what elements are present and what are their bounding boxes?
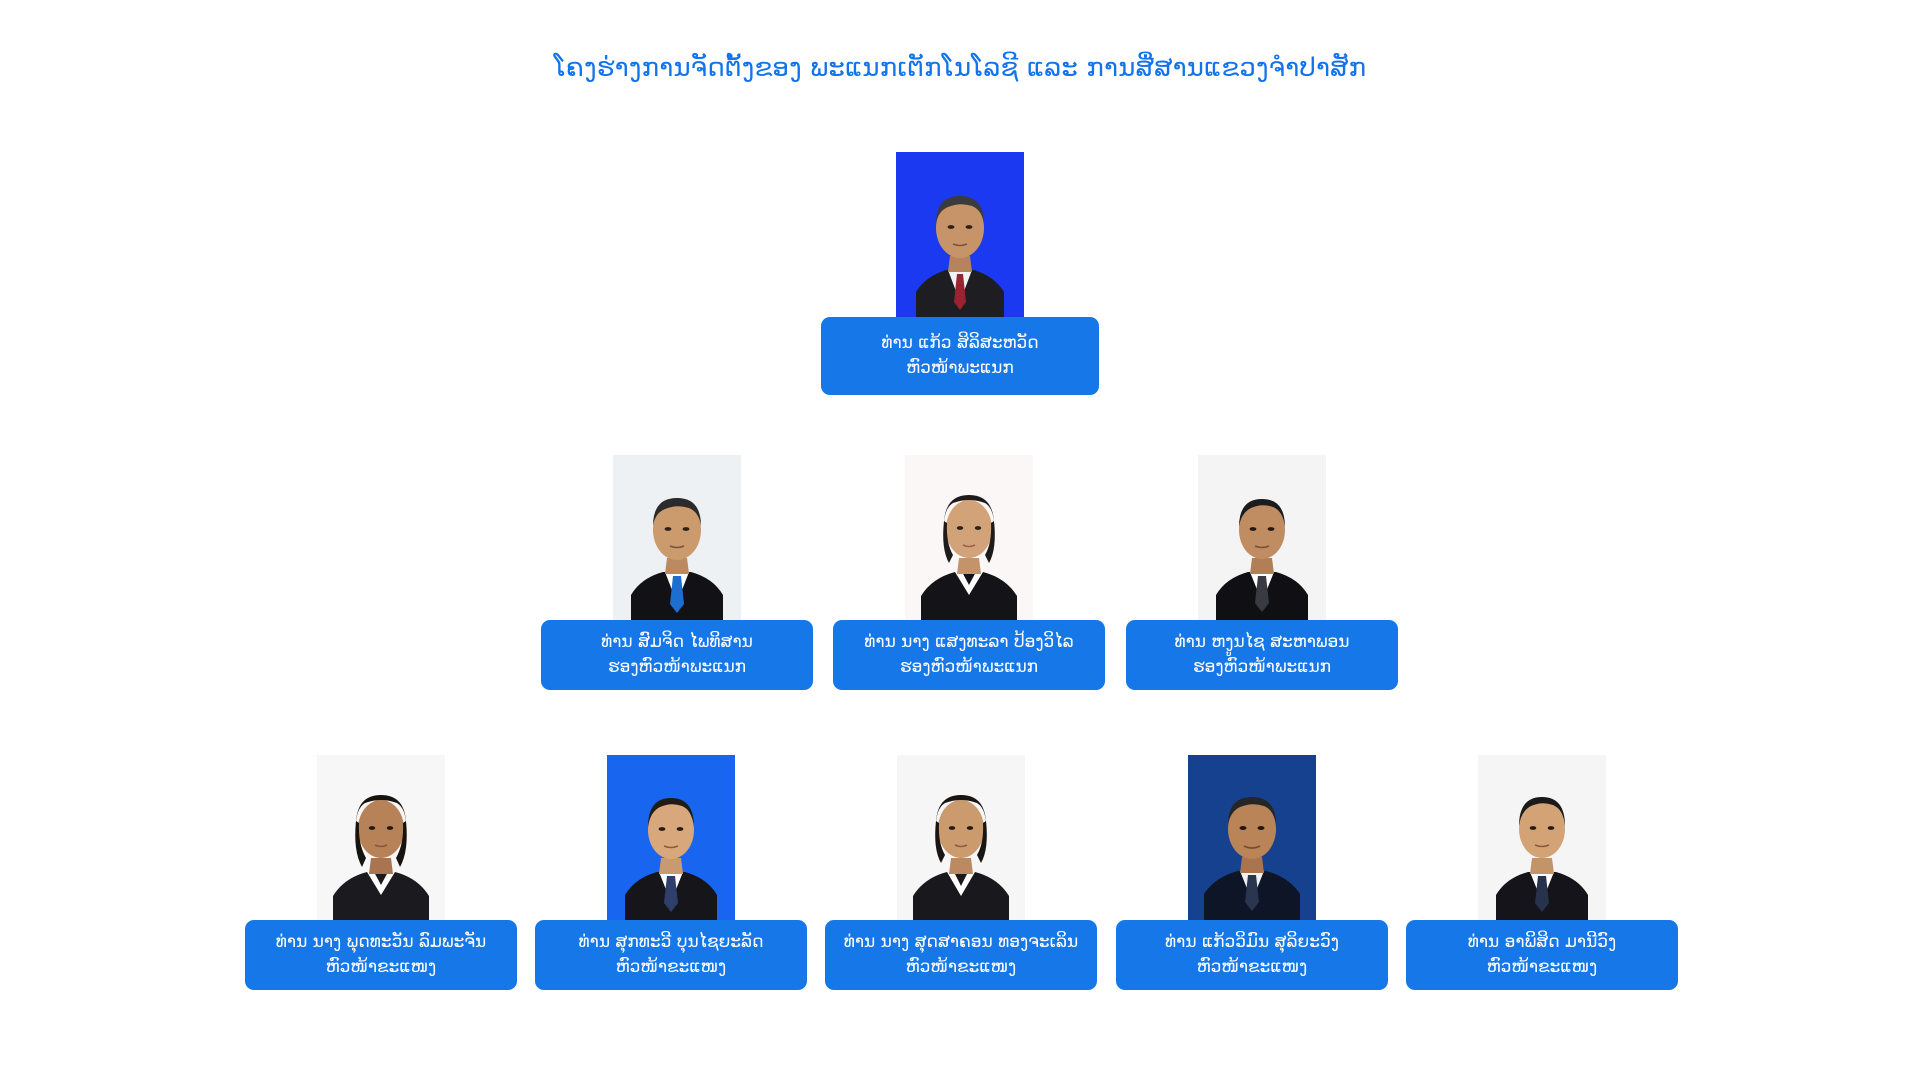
person-name: ທ່ານ ນາງ ພຸດທະວັນ ລົມພະຈັນ: [276, 930, 486, 955]
portrait-photo: [1198, 455, 1326, 620]
org-node-division-5[interactable]: ທ່ານ ອາພິສິດ ມານີວົງ ຫົວໜ້າຂະແໜງ: [1406, 755, 1678, 990]
portrait-photo: [613, 455, 741, 620]
name-card[interactable]: ທ່ານ ແກ້ວ ສິລິສະຫວັດ ຫົວໜ້າພະແນກ: [821, 317, 1099, 395]
org-node-head[interactable]: ທ່ານ ແກ້ວ ສິລິສະຫວັດ ຫົວໜ້າພະແນກ: [821, 152, 1099, 395]
name-card[interactable]: ທ່ານ ແກ້ວວິມົນ ສຸລິຍະວົງ ຫົວໜ້າຂະແໜງ: [1116, 920, 1388, 990]
org-node-division-3[interactable]: ທ່ານ ນາງ ສຸດສາຄອນ ທອງຈະເລິນ ຫົວໜ້າຂະແໜງ: [825, 755, 1097, 990]
person-role: ຫົວໜ້າພະແນກ: [906, 356, 1014, 381]
name-card[interactable]: ທ່ານ ສົມຈິດ ໄພທິສານ ຮອງຫົວໜ້າພະແນກ: [541, 620, 813, 690]
person-role: ຫົວໜ້າຂະແໜງ: [616, 955, 727, 980]
person-name: ທ່ານ ນາງ ສຸດສາຄອນ ທອງຈະເລິນ: [844, 930, 1079, 955]
person-name: ທ່ານ ນາງ ແສງທະລາ ປ້ອງວິໄລ: [864, 630, 1073, 655]
portrait-photo: [897, 755, 1025, 920]
org-node-division-2[interactable]: ທ່ານ ສຸກທະວີ ບຸນໄຊຍະລັດ ຫົວໜ້າຂະແໜງ: [535, 755, 807, 990]
person-name: ທ່ານ ຫງູນໄຊ ສະຫາພອນ: [1174, 630, 1349, 655]
name-card[interactable]: ທ່ານ ນາງ ແສງທະລາ ປ້ອງວິໄລ ຮອງຫົວໜ້າພະແນກ: [833, 620, 1105, 690]
org-node-deputy-1[interactable]: ທ່ານ ສົມຈິດ ໄພທິສານ ຮອງຫົວໜ້າພະແນກ: [541, 455, 813, 690]
person-name: ທ່ານ ສົມຈິດ ໄພທິສານ: [601, 630, 753, 655]
org-node-deputy-2[interactable]: ທ່ານ ນາງ ແສງທະລາ ປ້ອງວິໄລ ຮອງຫົວໜ້າພະແນກ: [833, 455, 1105, 690]
person-role: ຫົວໜ້າຂະແໜງ: [906, 955, 1017, 980]
org-chart: ໂຄງຮ່າງການຈັດຕັ້ງຂອງ ພະແນກເຕັກໂນໂລຊີ ແລະ…: [0, 0, 1920, 1080]
org-node-division-4[interactable]: ທ່ານ ແກ້ວວິມົນ ສຸລິຍະວົງ ຫົວໜ້າຂະແໜງ: [1116, 755, 1388, 990]
person-role: ຫົວໜ້າຂະແໜງ: [326, 955, 437, 980]
portrait-photo: [896, 152, 1024, 317]
person-role: ຫົວໜ້າຂະແໜງ: [1487, 955, 1598, 980]
portrait-photo: [1478, 755, 1606, 920]
person-name: ທ່ານ ອາພິສິດ ມານີວົງ: [1468, 930, 1616, 955]
org-node-deputy-3[interactable]: ທ່ານ ຫງູນໄຊ ສະຫາພອນ ຮອງຫົວໜ້າພະແນກ: [1126, 455, 1398, 690]
person-role: ຮອງຫົວໜ້າພະແນກ: [900, 655, 1038, 680]
person-role: ຫົວໜ້າຂະແໜງ: [1197, 955, 1308, 980]
person-role: ຮອງຫົວໜ້າພະແນກ: [608, 655, 746, 680]
portrait-photo: [1188, 755, 1316, 920]
page-title: ໂຄງຮ່າງການຈັດຕັ້ງຂອງ ພະແນກເຕັກໂນໂລຊີ ແລະ…: [0, 52, 1920, 85]
name-card[interactable]: ທ່ານ ສຸກທະວີ ບຸນໄຊຍະລັດ ຫົວໜ້າຂະແໜງ: [535, 920, 807, 990]
person-role: ຮອງຫົວໜ້າພະແນກ: [1193, 655, 1331, 680]
portrait-photo: [905, 455, 1033, 620]
name-card[interactable]: ທ່ານ ຫງູນໄຊ ສະຫາພອນ ຮອງຫົວໜ້າພະແນກ: [1126, 620, 1398, 690]
name-card[interactable]: ທ່ານ ນາງ ສຸດສາຄອນ ທອງຈະເລິນ ຫົວໜ້າຂະແໜງ: [825, 920, 1097, 990]
name-card[interactable]: ທ່ານ ນາງ ພຸດທະວັນ ລົມພະຈັນ ຫົວໜ້າຂະແໜງ: [245, 920, 517, 990]
person-name: ທ່ານ ສຸກທະວີ ບຸນໄຊຍະລັດ: [579, 930, 764, 955]
portrait-photo: [607, 755, 735, 920]
person-name: ທ່ານ ແກ້ວ ສິລິສະຫວັດ: [881, 331, 1038, 356]
org-node-division-1[interactable]: ທ່ານ ນາງ ພຸດທະວັນ ລົມພະຈັນ ຫົວໜ້າຂະແໜງ: [245, 755, 517, 990]
name-card[interactable]: ທ່ານ ອາພິສິດ ມານີວົງ ຫົວໜ້າຂະແໜງ: [1406, 920, 1678, 990]
person-name: ທ່ານ ແກ້ວວິມົນ ສຸລິຍະວົງ: [1165, 930, 1339, 955]
portrait-photo: [317, 755, 445, 920]
